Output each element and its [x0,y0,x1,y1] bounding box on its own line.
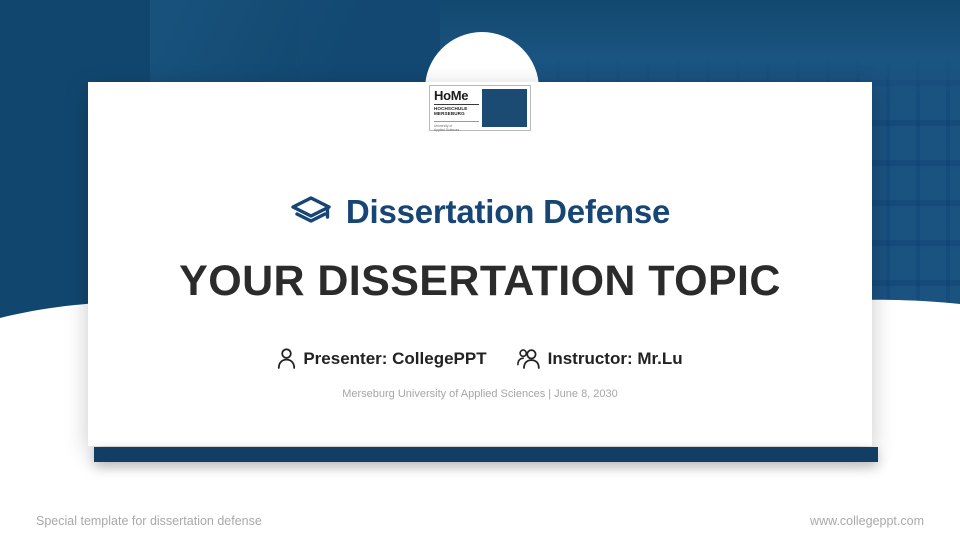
kicker-title: Dissertation Defense [346,193,670,231]
logo-hochschule: HOCHSCHULE MERSEBURG [434,104,479,117]
presentation-slide: HoMe HOCHSCHULE MERSEBURG University of … [0,0,960,540]
logo-subtitle: University of Applied Sciences [434,121,479,132]
person-icon [277,348,296,369]
instructor-label: Instructor: Mr.Lu [548,348,683,369]
logo-wordmark: HoMe [434,89,479,102]
footer-website: www.collegeppt.com [810,513,924,529]
logo-subtitle-line2: Applied Sciences [434,128,479,132]
presenter-label: Presenter: CollegePPT [303,348,486,369]
logo-blue-block [482,89,527,127]
university-logo: HoMe HOCHSCHULE MERSEBURG University of … [429,85,531,131]
graduation-cap-icon [290,195,332,229]
footer-left-text: Special template for dissertation defens… [36,513,262,529]
slide-meta: Merseburg University of Applied Sciences… [0,386,960,402]
university-logo-text-block: HoMe HOCHSCHULE MERSEBURG University of … [430,86,482,130]
people-row: Presenter: CollegePPT Instructor: Mr.Lu [0,348,960,369]
page-title: YOUR DISSERTATION TOPIC [0,255,960,307]
logo-merseburg-line: MERSEBURG [434,111,479,116]
presenter-item: Presenter: CollegePPT [277,348,486,369]
card-bottom-bar [94,447,878,462]
people-group-icon [517,348,541,369]
instructor-item: Instructor: Mr.Lu [517,348,683,369]
kicker-row: Dissertation Defense [0,193,960,231]
